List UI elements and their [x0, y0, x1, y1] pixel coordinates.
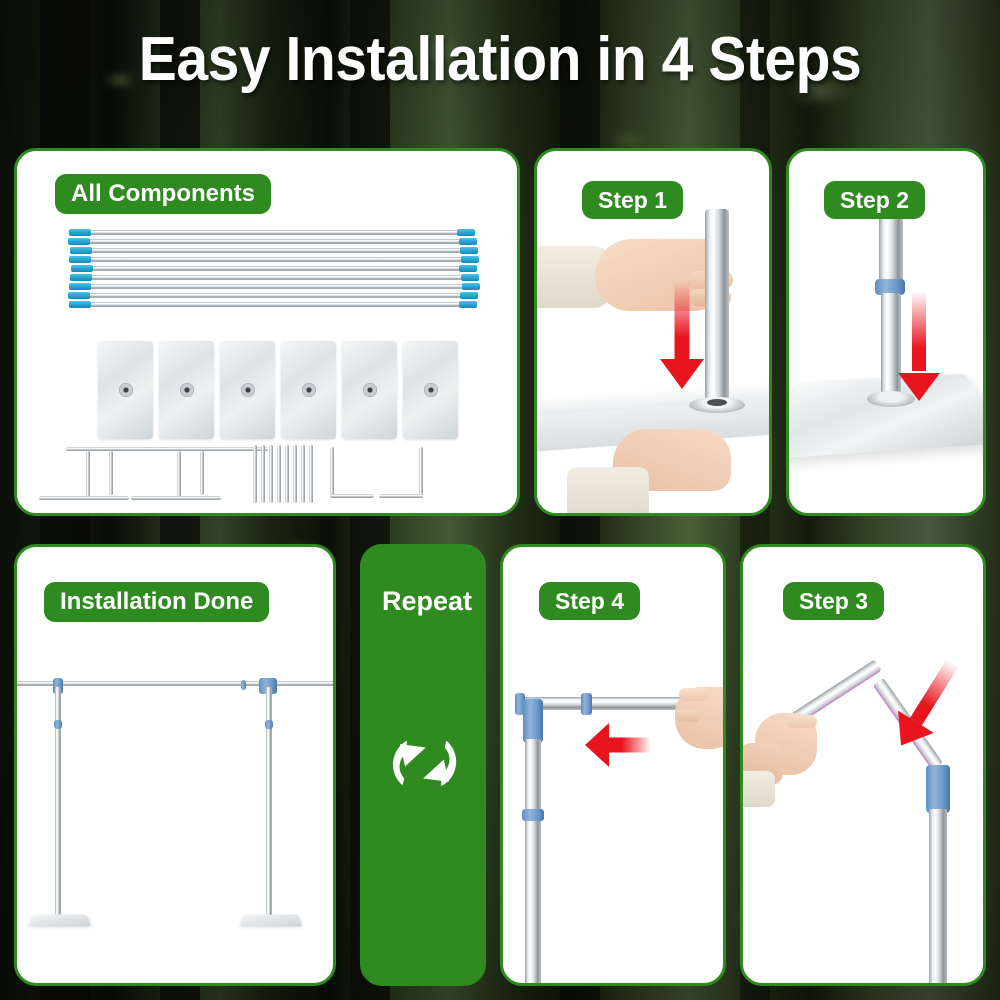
corner-connector-step4	[523, 699, 543, 743]
pole-bore	[707, 399, 727, 406]
badge-step-2: Step 2	[824, 181, 925, 219]
crossbar-collar-mid	[241, 680, 246, 690]
upright-right-collar	[265, 720, 273, 729]
pole-step1	[705, 209, 729, 409]
badge-step-1: Step 1	[582, 181, 683, 219]
finger-step4-2	[675, 710, 701, 722]
badge-step-3: Step 3	[783, 582, 884, 620]
upright-left-collar	[54, 720, 62, 729]
upright-step4	[525, 739, 541, 986]
page-title: Easy Installation in 4 Steps	[40, 24, 960, 95]
blue-connector-step3	[926, 765, 950, 813]
arrow-down-step1	[659, 281, 705, 389]
sleeve-step3	[740, 771, 775, 807]
crossbar-ring-mid	[581, 693, 592, 715]
pole-upper-step2	[879, 209, 903, 281]
refresh-cycle-icon	[381, 718, 467, 808]
upright-step3	[929, 809, 947, 986]
finger-step4-1	[679, 688, 709, 701]
upright-ring-step4	[522, 809, 544, 821]
foot-plate-right	[240, 915, 303, 927]
badge-all-components: All Components	[55, 174, 271, 214]
badge-repeat: Repeat	[382, 586, 472, 617]
foot-plate-left	[29, 915, 92, 927]
badge-installation-done: Installation Done	[44, 582, 269, 622]
sleeve-lower	[567, 467, 649, 516]
arrow-left-step4	[585, 723, 651, 767]
arrow-down-step2	[897, 291, 941, 401]
finger-step3-1	[787, 715, 817, 728]
badge-step-4: Step 4	[539, 582, 640, 620]
